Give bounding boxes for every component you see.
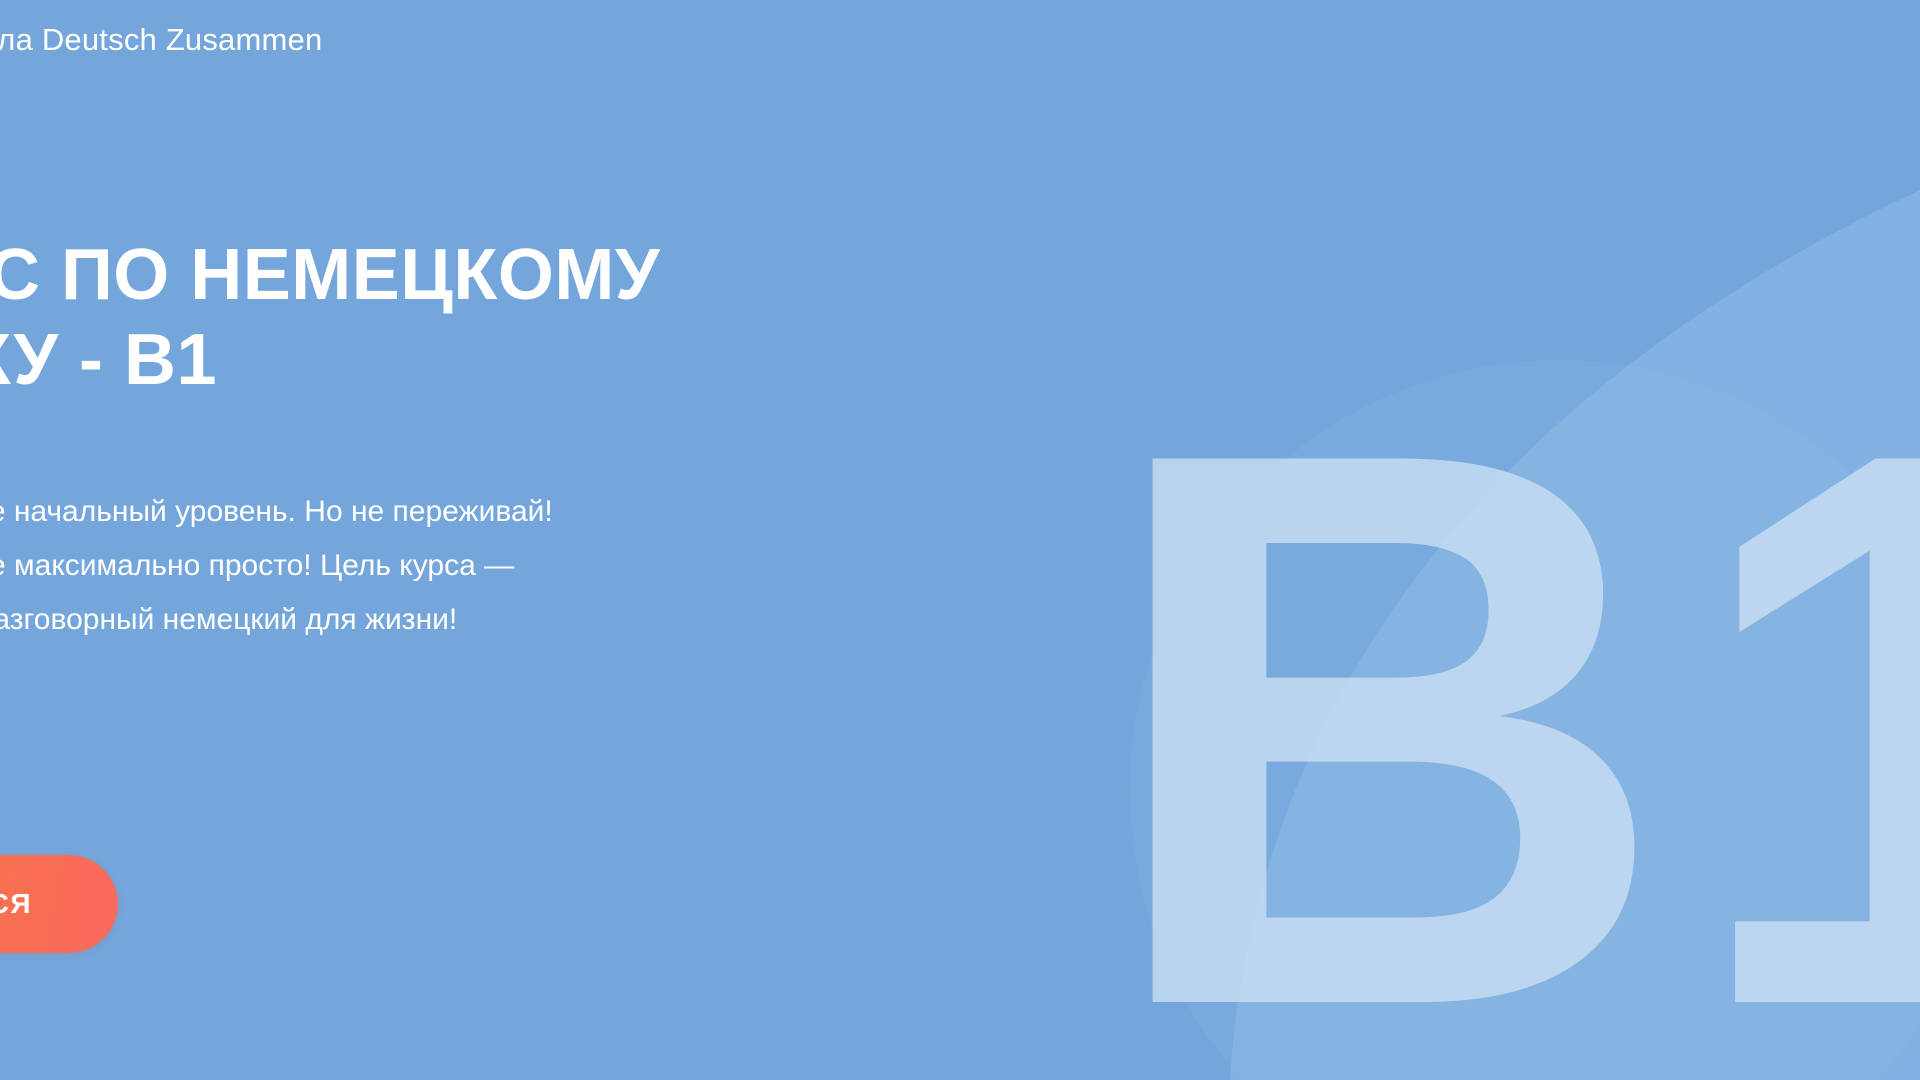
cta-container: ПИСАТЬСЯ bbox=[0, 855, 118, 953]
headline-line-1: УРС ПО НЕМЕЦКОМУ bbox=[0, 233, 896, 318]
decor-circle bbox=[1130, 360, 1920, 1080]
description-line-1: всем не начальный уровень. Но не пережив… bbox=[0, 485, 896, 539]
decor-number-1: 1 bbox=[1685, 288, 1920, 1080]
brand-name: йн-школа Deutsch Zusammen bbox=[0, 22, 322, 58]
headline-line-2: ЫКУ - B1 bbox=[0, 318, 896, 403]
page-title: УРС ПО НЕМЕЦКОМУ ЫКУ - B1 bbox=[0, 233, 896, 403]
signup-button[interactable]: ПИСАТЬСЯ bbox=[0, 855, 118, 953]
hero-section: B 1 йн-школа Deutsch Zusammen УРС ПО НЕМ… bbox=[0, 0, 1920, 1080]
decor-letter-b: B bbox=[1100, 288, 1671, 1080]
description-line-2: сню все максимально просто! Цель курса — bbox=[0, 539, 896, 593]
decor-swoosh bbox=[1230, 190, 1920, 1080]
hero-content: йн-школа Deutsch Zusammen УРС ПО НЕМЕЦКО… bbox=[0, 0, 996, 1080]
description-line-3: дный разговорный немецкий для жизни! bbox=[0, 593, 896, 647]
hero-description: всем не начальный уровень. Но не пережив… bbox=[0, 485, 896, 647]
